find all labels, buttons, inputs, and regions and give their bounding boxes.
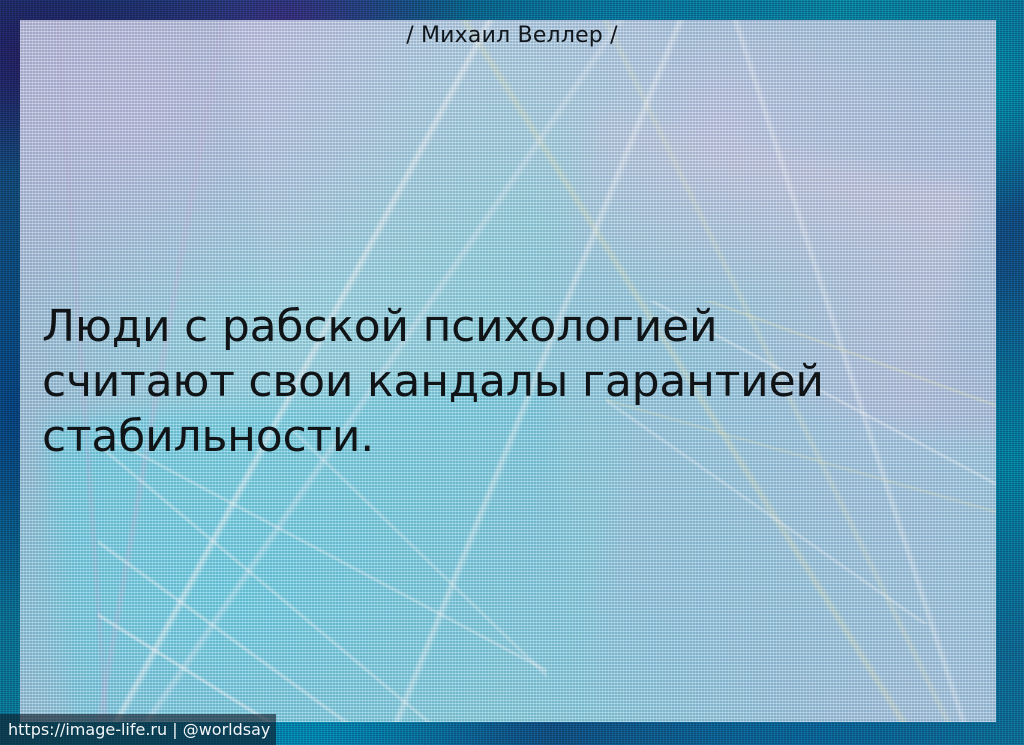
quote-line-3: стабильности. — [42, 409, 942, 464]
quote-line-1: Люди с рабской психологией — [42, 299, 942, 354]
quote-image-card: / Михаил Веллер / Люди с рабской психоло… — [0, 0, 1024, 745]
quote-line-2: считают свои кандалы гарантией — [42, 354, 942, 409]
watermark-text[interactable]: https://image-life.ru | @worldsay — [0, 720, 270, 740]
watermark-bar: https://image-life.ru | @worldsay — [0, 714, 276, 745]
author-attribution: / Михаил Веллер / — [0, 22, 1024, 50]
quote-text-block: Люди с рабской психологией считают свои … — [42, 299, 942, 464]
